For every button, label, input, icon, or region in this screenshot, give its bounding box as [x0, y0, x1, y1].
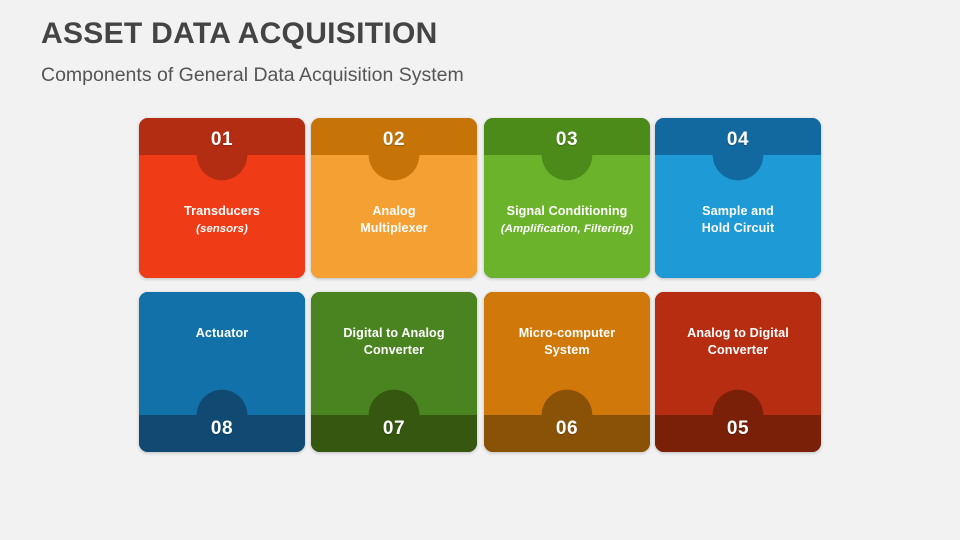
- card-title: Signal Conditioning: [490, 203, 644, 220]
- card-title: Digital to Analog Converter: [317, 325, 471, 359]
- card-label: Digital to Analog Converter: [317, 325, 471, 359]
- component-card-04[interactable]: 04Sample and Hold Circuit: [655, 118, 821, 278]
- card-number: 06: [484, 418, 650, 440]
- card-title: Actuator: [145, 325, 299, 342]
- header: ASSET DATA ACQUISITION Components of Gen…: [41, 14, 901, 89]
- card-number: 03: [484, 129, 650, 151]
- card-number: 05: [655, 418, 821, 440]
- card-label: Transducers(sensors): [145, 203, 299, 238]
- component-card-03[interactable]: 03Signal Conditioning(Amplification, Fil…: [484, 118, 650, 278]
- card-label: Analog to Digital Converter: [661, 325, 815, 359]
- card-title: Analog Multiplexer: [317, 203, 471, 237]
- page-subtitle: Components of General Data Acquisition S…: [41, 61, 901, 89]
- card-body: [139, 292, 305, 415]
- card-label: Signal Conditioning(Amplification, Filte…: [490, 203, 644, 238]
- card-title: Micro-computer System: [490, 325, 644, 359]
- card-number: 08: [139, 418, 305, 440]
- card-title: Transducers: [145, 203, 299, 220]
- card-label: Actuator: [145, 325, 299, 342]
- card-title: Sample and Hold Circuit: [661, 203, 815, 237]
- card-subtitle: (sensors): [145, 221, 299, 238]
- card-number: 01: [139, 129, 305, 151]
- component-card-grid: 01Transducers(sensors)02Analog Multiplex…: [139, 118, 821, 452]
- component-card-07[interactable]: 07Digital to Analog Converter: [311, 292, 477, 452]
- component-card-05[interactable]: 05Analog to Digital Converter: [655, 292, 821, 452]
- card-label: Analog Multiplexer: [317, 203, 471, 237]
- card-number: 04: [655, 129, 821, 151]
- component-card-01[interactable]: 01Transducers(sensors): [139, 118, 305, 278]
- component-card-08[interactable]: 08Actuator: [139, 292, 305, 452]
- card-subtitle: (Amplification, Filtering): [490, 221, 644, 238]
- page-title: ASSET DATA ACQUISITION: [41, 14, 901, 54]
- card-number: 02: [311, 129, 477, 151]
- component-card-06[interactable]: 06Micro-computer System: [484, 292, 650, 452]
- component-card-02[interactable]: 02Analog Multiplexer: [311, 118, 477, 278]
- card-title: Analog to Digital Converter: [661, 325, 815, 359]
- card-label: Micro-computer System: [490, 325, 644, 359]
- card-number: 07: [311, 418, 477, 440]
- card-label: Sample and Hold Circuit: [661, 203, 815, 237]
